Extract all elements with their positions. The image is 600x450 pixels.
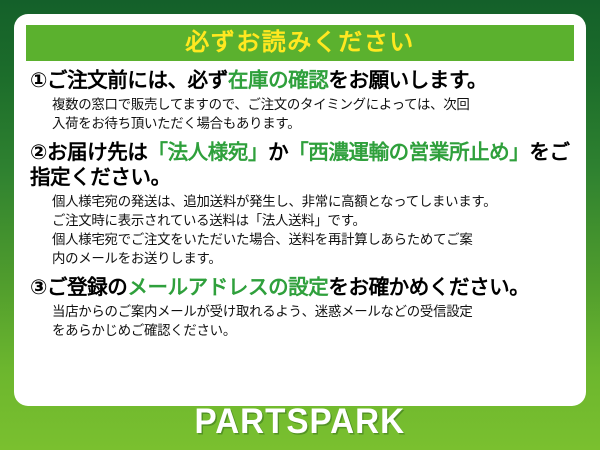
brand-footer: PARTSPARK — [0, 392, 600, 450]
notice-item-headline-text: をお願いします。 — [328, 69, 487, 92]
notice-item-subtext: 複数の窓口で販売してますので、ご注文のタイミングによっては、次回 入荷をお待ち頂… — [30, 95, 570, 133]
notice-item-headline-text: ご登録の — [47, 276, 127, 299]
notice-panel: 必ずお読みください ①ご注文前には、必ず在庫の確認をお願いします。複数の窓口で販… — [14, 14, 586, 406]
notice-item-marker: ② — [30, 141, 47, 164]
notice-item-headline: ①ご注文前には、必ず在庫の確認をお願いします。 — [30, 68, 570, 93]
notice-item: ②お届け先は「法人様宛」か「西濃運輸の営業所止め」をご指定ください。個人様宅宛の… — [30, 140, 570, 268]
notice-item-subtext: 個人様宅宛の発送は、追加送料が発生し、非常に高額となってしまいます。 ご注文時に… — [30, 192, 570, 268]
notice-item-headline: ②お届け先は「法人様宛」か「西濃運輸の営業所止め」をご指定ください。 — [30, 140, 570, 190]
notice-item-headline-highlight: メールアドレスの設定 — [127, 276, 328, 299]
notice-item-headline: ③ご登録のメールアドレスの設定をお確かめください。 — [30, 275, 570, 300]
notice-item-headline-text: お届け先は — [47, 141, 148, 164]
notice-item-headline-text: をお確かめください。 — [328, 276, 529, 299]
notice-item-subtext: 当店からのご案内メールが受け取れるよう、迷惑メールなどの受信設定 をあらかじめご… — [30, 302, 570, 340]
notice-item-headline-highlight: 「西濃運輸の営業所止め」 — [288, 141, 529, 164]
notice-item-headline-text: か — [268, 141, 288, 164]
notice-banner: 必ずお読みください ①ご注文前には、必ず在庫の確認をお願いします。複数の窓口で販… — [0, 0, 600, 450]
notice-item-headline-text: ご注文前には、必ず — [47, 69, 228, 92]
brand-wordmark: PARTSPARK — [195, 404, 406, 439]
notice-item-list: ①ご注文前には、必ず在庫の確認をお願いします。複数の窓口で販売してますので、ご注… — [26, 61, 574, 340]
notice-item-headline-highlight: 在庫の確認 — [228, 69, 329, 92]
notice-header-title: 必ずお読みください — [185, 31, 415, 55]
notice-header-bar: 必ずお読みください — [26, 25, 574, 61]
notice-item-headline-highlight: 「法人様宛」 — [147, 141, 268, 164]
notice-item: ③ご登録のメールアドレスの設定をお確かめください。当店からのご案内メールが受け取… — [30, 275, 570, 340]
notice-item: ①ご注文前には、必ず在庫の確認をお願いします。複数の窓口で販売してますので、ご注… — [30, 68, 570, 133]
notice-item-marker: ③ — [30, 276, 47, 299]
notice-item-marker: ① — [30, 69, 47, 92]
